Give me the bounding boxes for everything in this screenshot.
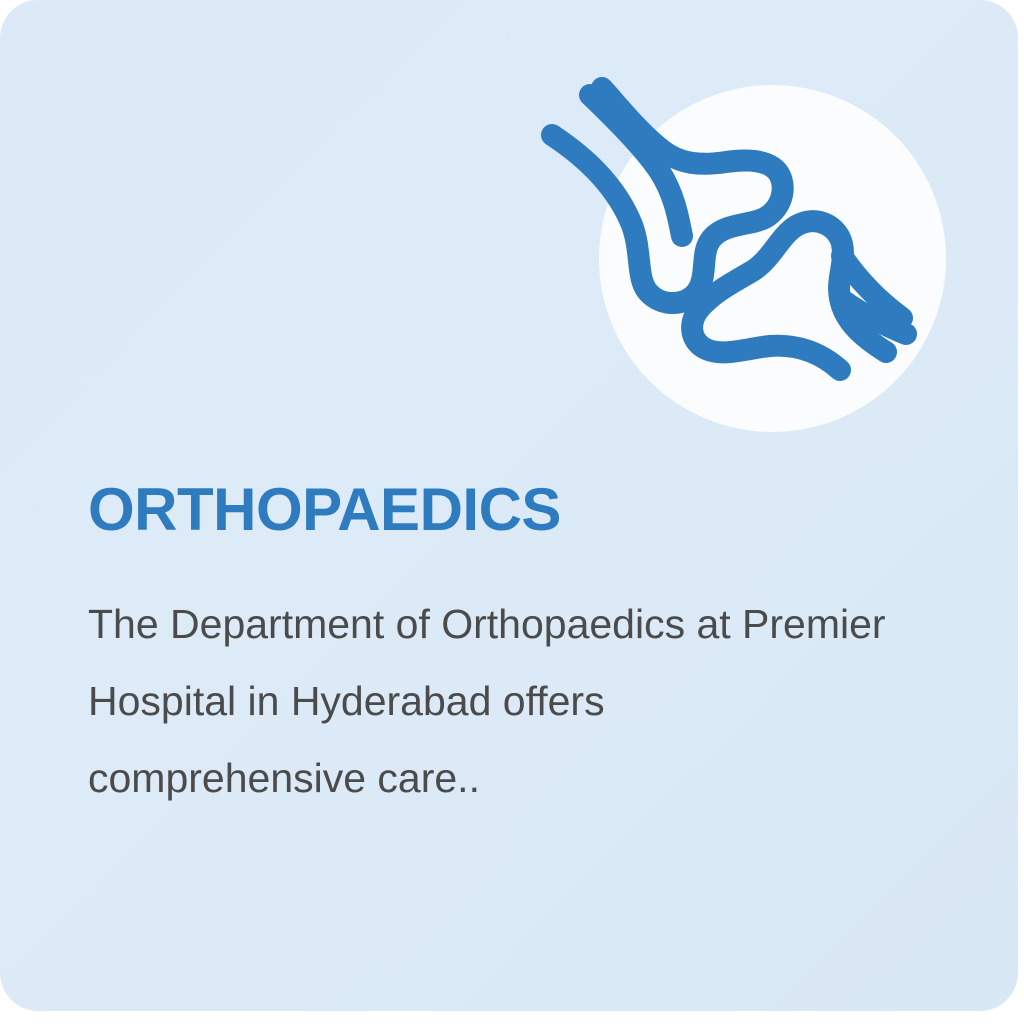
orthopaedics-department-card[interactable]: ORTHOPAEDICS The Department of Orthopaed…	[0, 0, 1018, 1011]
page-title: ORTHOPAEDICS	[88, 478, 928, 542]
card-description: The Department of Orthopaedics at Premie…	[88, 586, 888, 817]
card-text-block: ORTHOPAEDICS The Department of Orthopaed…	[88, 478, 928, 817]
bone-joint-icon	[540, 40, 960, 400]
